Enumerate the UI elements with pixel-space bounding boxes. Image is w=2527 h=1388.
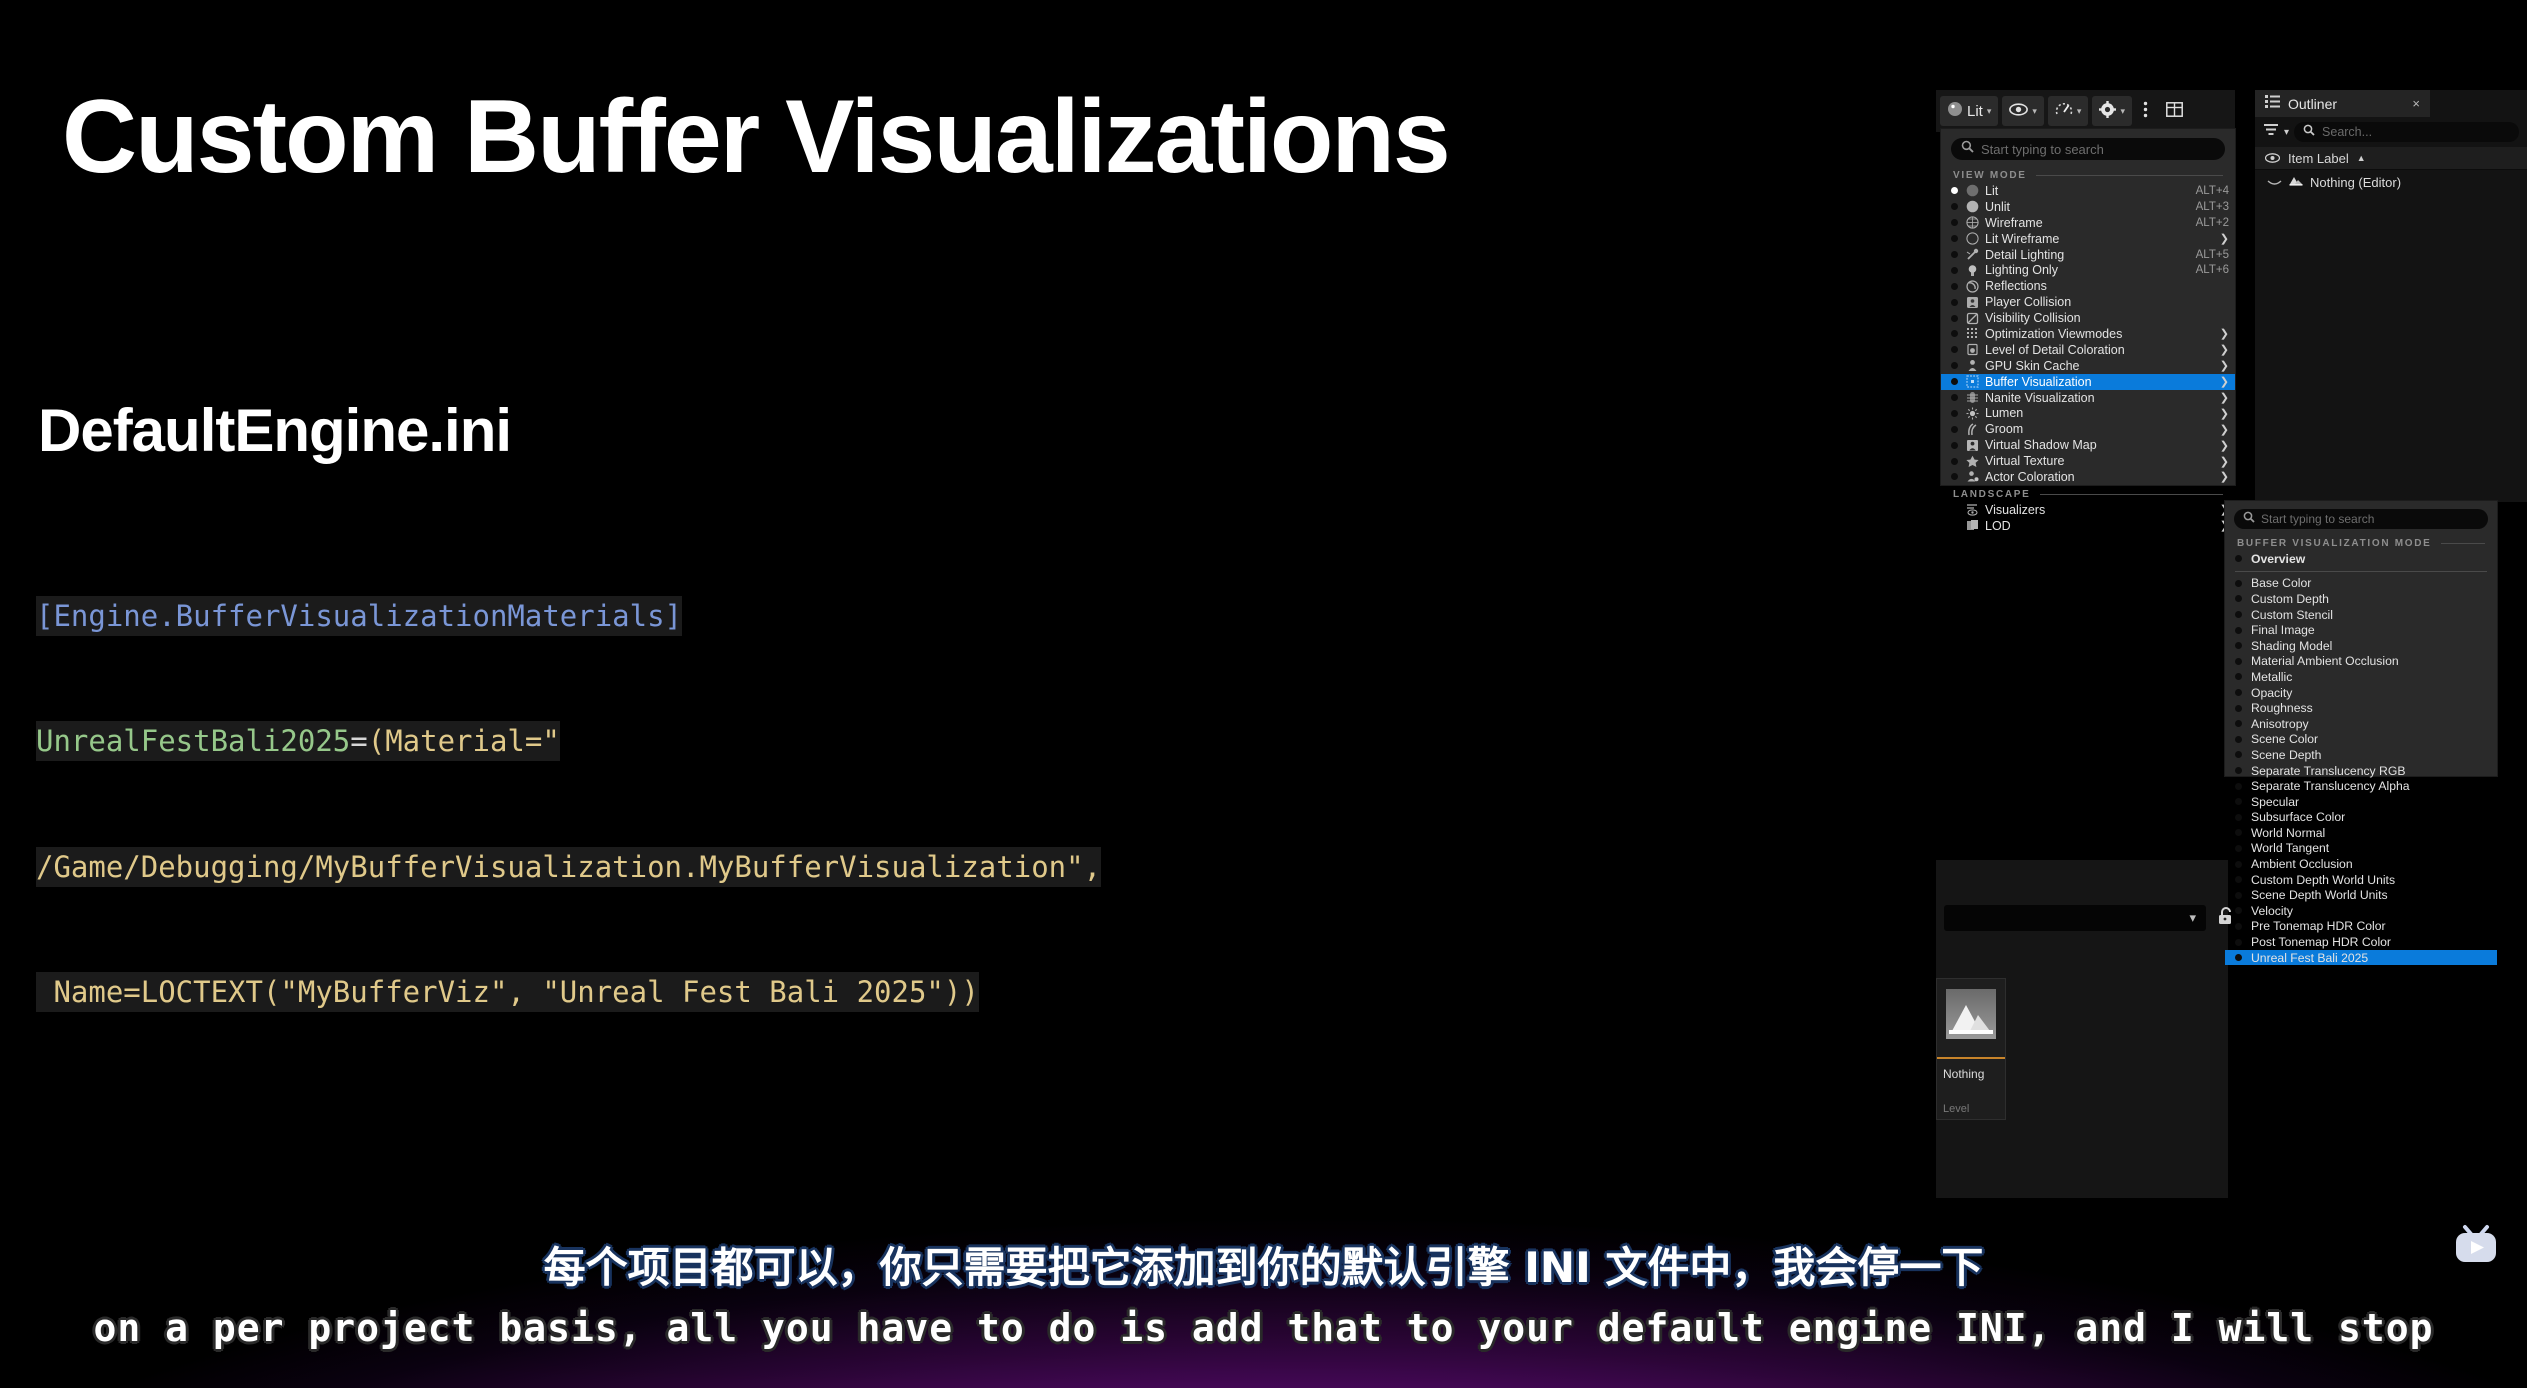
radio-icon bbox=[1951, 394, 1958, 401]
bufviz-item-label: Ambient Occlusion bbox=[2251, 857, 2353, 871]
bufviz-item-world-tangent[interactable]: World Tangent bbox=[2225, 841, 2497, 857]
radio-icon bbox=[1951, 283, 1958, 290]
chevron-down-icon: ▾ bbox=[1987, 106, 1992, 117]
radio-icon bbox=[2235, 939, 2242, 946]
chevron-down-icon: ▾ bbox=[2032, 106, 2037, 117]
code-line-4: Name=LOCTEXT("MyBufferViz", "Unreal Fest… bbox=[36, 972, 1101, 1014]
viewmode-item-shortcut: ALT+4 bbox=[2196, 185, 2229, 197]
radio-icon bbox=[1951, 267, 1958, 274]
viewmode-item-reflections[interactable]: Reflections bbox=[1941, 278, 2235, 294]
lit-wireframe-icon bbox=[1965, 232, 1979, 245]
bufviz-item-label: Unreal Fest Bali 2025 bbox=[2251, 951, 2368, 965]
chevron-right-icon: ❯ bbox=[2220, 407, 2229, 420]
search-placeholder: Search... bbox=[2322, 125, 2372, 139]
close-icon[interactable]: × bbox=[2412, 96, 2420, 111]
viewmode-item-level-of-detail-coloration[interactable]: Level of Detail Coloration❯ bbox=[1941, 342, 2235, 358]
radio-icon bbox=[2235, 845, 2242, 852]
code-line-1: [Engine.BufferVisualizationMaterials] bbox=[36, 596, 1101, 638]
radio-icon bbox=[1951, 219, 1958, 226]
outliner-title: Outliner bbox=[2288, 96, 2404, 112]
radio-icon bbox=[2235, 673, 2242, 680]
view-mode-menu: Start typing to search VIEW MODE LitALT+… bbox=[1940, 128, 2236, 486]
viewmode-item-shortcut: ALT+2 bbox=[2196, 217, 2229, 229]
viewmode-item-label: Reflections bbox=[1985, 279, 2229, 293]
bufviz-item-label: Separate Translucency RGB bbox=[2251, 764, 2405, 778]
radio-icon bbox=[2235, 923, 2242, 930]
show-flags-button[interactable]: ▾ bbox=[2002, 96, 2044, 126]
radio-icon bbox=[1951, 235, 1958, 242]
bufviz-item-scene-depth-world-units[interactable]: Scene Depth World Units bbox=[2225, 887, 2497, 903]
bufviz-item-label: Base Color bbox=[2251, 576, 2311, 590]
lit-sphere-icon bbox=[1965, 184, 1979, 197]
radio-icon bbox=[2235, 798, 2242, 805]
visibility-collision-icon bbox=[1965, 312, 1979, 325]
chevron-down-icon: ▾ bbox=[2077, 106, 2082, 117]
bufviz-item-overview[interactable]: Overview bbox=[2225, 551, 2497, 567]
bufviz-item-list: Base ColorCustom DepthCustom StencilFina… bbox=[2225, 576, 2497, 966]
chevron-down-icon[interactable]: ▾ bbox=[2284, 127, 2289, 138]
visualizers-icon bbox=[1965, 503, 1979, 516]
chevron-right-icon: ❯ bbox=[2220, 391, 2229, 404]
code-section-header: [Engine.BufferVisualizationMaterials] bbox=[36, 596, 682, 636]
divider bbox=[2441, 543, 2485, 544]
chevron-right-icon: ❯ bbox=[2220, 423, 2229, 436]
bufviz-item-custom-stencil[interactable]: Custom Stencil bbox=[2225, 607, 2497, 623]
bufviz-item-separate-translucency-alpha[interactable]: Separate Translucency Alpha bbox=[2225, 778, 2497, 794]
lod-icon bbox=[1965, 519, 1979, 532]
bufviz-item-scene-depth[interactable]: Scene Depth bbox=[2225, 747, 2497, 763]
bufviz-item-pre-tonemap-hdr-color[interactable]: Pre Tonemap HDR Color bbox=[2225, 919, 2497, 935]
bufviz-item-custom-depth-world-units[interactable]: Custom Depth World Units bbox=[2225, 872, 2497, 888]
asset-type: Level bbox=[1943, 1103, 1969, 1115]
unlit-sphere-icon bbox=[1965, 200, 1979, 213]
bufviz-item-world-normal[interactable]: World Normal bbox=[2225, 825, 2497, 841]
subtitle-chinese: 每个项目都可以，你只需要把它添加到你的默认引擎 INI 文件中，我会停一下 bbox=[0, 1234, 2527, 1295]
code-line-3: /Game/Debugging/MyBufferVisualization.My… bbox=[36, 847, 1101, 889]
bufviz-item-opacity[interactable]: Opacity bbox=[2225, 685, 2497, 701]
groom-icon bbox=[1965, 423, 1979, 436]
viewmode-item-label: Lit Wireframe bbox=[1985, 232, 2214, 246]
radio-icon bbox=[1951, 203, 1958, 210]
viewmode-item-gpu-skin-cache[interactable]: GPU Skin Cache❯ bbox=[1941, 358, 2235, 374]
code-material-path: /Game/Debugging/MyBufferVisualization.My… bbox=[36, 847, 1101, 887]
viewmode-item-label: Nanite Visualization bbox=[1985, 391, 2214, 405]
bufviz-item-custom-depth[interactable]: Custom Depth bbox=[2225, 591, 2497, 607]
level-thumbnail-icon bbox=[1946, 989, 1996, 1039]
viewmode-item-label: Player Collision bbox=[1985, 295, 2229, 309]
virtual-texture-icon bbox=[1965, 455, 1979, 468]
viewmode-item-shortcut: ALT+3 bbox=[2196, 201, 2229, 213]
virtual-shadow-map-icon bbox=[1965, 439, 1979, 452]
eye-icon bbox=[2009, 103, 2028, 120]
landscape-item-label: Visualizers bbox=[1985, 503, 2214, 517]
bilibili-logo-icon bbox=[2452, 1224, 2500, 1266]
outliner-toolbar: ▾ Search... bbox=[2255, 117, 2527, 147]
chevron-right-icon: ❯ bbox=[2220, 439, 2229, 452]
page-title: Custom Buffer Visualizations bbox=[62, 78, 1449, 197]
viewmode-section-header: VIEW MODE bbox=[1941, 166, 2235, 183]
bufviz-item-label: Opacity bbox=[2251, 686, 2292, 700]
viewmode-item-virtual-texture[interactable]: Virtual Texture❯ bbox=[1941, 453, 2235, 469]
bufviz-item-label: Roughness bbox=[2251, 701, 2313, 715]
viewmode-item-label: Virtual Texture bbox=[1985, 454, 2214, 468]
bufviz-item-base-color[interactable]: Base Color bbox=[2225, 576, 2497, 592]
chevron-right-icon: ❯ bbox=[2220, 343, 2229, 356]
search-icon bbox=[2243, 510, 2255, 528]
lod-coloration-icon bbox=[1965, 343, 1979, 356]
radio-icon bbox=[1951, 251, 1958, 258]
spacer bbox=[1951, 522, 1958, 529]
sort-ascending-icon[interactable]: ▲ bbox=[2357, 153, 2366, 163]
radio-icon bbox=[2235, 892, 2242, 899]
bufviz-item-label: Scene Color bbox=[2251, 732, 2318, 746]
landscape-section-header: LANDSCAPE bbox=[1941, 485, 2235, 502]
bufviz-item-label: Material Ambient Occlusion bbox=[2251, 654, 2399, 668]
radio-icon bbox=[2235, 627, 2242, 634]
bufviz-item-post-tonemap-hdr-color[interactable]: Post Tonemap HDR Color bbox=[2225, 934, 2497, 950]
viewmode-item-lit-wireframe[interactable]: Lit Wireframe❯ bbox=[1941, 231, 2235, 247]
radio-icon bbox=[1951, 187, 1958, 194]
optimization-icon bbox=[1965, 327, 1979, 340]
search-icon bbox=[2303, 123, 2315, 141]
bufviz-item-label: Anisotropy bbox=[2251, 717, 2309, 731]
radio-icon bbox=[1951, 362, 1958, 369]
landscape-item-lod[interactable]: LOD❯ bbox=[1941, 518, 2235, 534]
viewmode-item-label: Lumen bbox=[1985, 406, 2214, 420]
code-snippet: [Engine.BufferVisualizationMaterials] Un… bbox=[36, 512, 1101, 1056]
code-line-2: UnrealFestBali2025=(Material=" bbox=[36, 721, 1101, 763]
divider bbox=[2235, 571, 2487, 572]
bufviz-section-label: BUFFER VISUALIZATION MODE bbox=[2237, 538, 2432, 549]
viewmode-item-label: Actor Coloration bbox=[1985, 470, 2214, 484]
bufviz-item-label: Scene Depth World Units bbox=[2251, 888, 2388, 902]
lumen-icon bbox=[1965, 407, 1979, 420]
viewmode-item-lumen[interactable]: Lumen❯ bbox=[1941, 405, 2235, 421]
viewmode-item-label: Optimization Viewmodes bbox=[1985, 327, 2214, 341]
viewmode-item-shortcut: ALT+6 bbox=[2196, 264, 2229, 276]
subtitle-english: on a per project basis, all you have to … bbox=[0, 1306, 2527, 1350]
outliner-panel: Outliner × ▾ Search... Item Label ▲ Noth… bbox=[2254, 90, 2527, 502]
code-equals: = bbox=[350, 724, 367, 758]
viewmode-item-label: Level of Detail Coloration bbox=[1985, 343, 2214, 357]
bufviz-item-label: Shading Model bbox=[2251, 639, 2332, 653]
radio-icon bbox=[1951, 458, 1958, 465]
radio-icon bbox=[2235, 751, 2242, 758]
chevron-right-icon: ❯ bbox=[2220, 359, 2229, 372]
radio-icon bbox=[2235, 720, 2242, 727]
speedometer-icon bbox=[2055, 101, 2073, 121]
viewmode-item-shortcut: ALT+5 bbox=[2196, 249, 2229, 261]
bufviz-item-label: Post Tonemap HDR Color bbox=[2251, 935, 2391, 949]
grid-icon bbox=[2166, 102, 2183, 121]
viewmode-item-actor-coloration[interactable]: Actor Coloration❯ bbox=[1941, 469, 2235, 485]
radio-icon bbox=[1951, 378, 1958, 385]
bufviz-item-label: Velocity bbox=[2251, 904, 2293, 918]
viewmode-item-groom[interactable]: Groom❯ bbox=[1941, 421, 2235, 437]
bufviz-section-header: BUFFER VISUALIZATION MODE bbox=[2225, 534, 2497, 551]
viewmode-item-nanite-visualization[interactable]: Nanite Visualization❯ bbox=[1941, 390, 2235, 406]
radio-icon bbox=[2235, 876, 2242, 883]
buffer-visualization-menu: Start typing to search BUFFER VISUALIZAT… bbox=[2224, 500, 2498, 777]
radio-icon bbox=[2235, 658, 2242, 665]
view-mode-label: Lit bbox=[1967, 103, 1983, 120]
viewmode-item-lit[interactable]: LitALT+4 bbox=[1941, 183, 2235, 199]
divider bbox=[2040, 494, 2223, 495]
viewmode-item-virtual-shadow-map[interactable]: Virtual Shadow Map❯ bbox=[1941, 437, 2235, 453]
bufviz-item-label: Final Image bbox=[2251, 623, 2315, 637]
kebab-icon bbox=[2143, 101, 2148, 122]
asset-tile[interactable]: Nothing Level bbox=[1936, 978, 2006, 1120]
bufviz-item-label: Overview bbox=[2251, 552, 2305, 566]
radio-icon bbox=[2235, 580, 2242, 587]
outliner-row-label: Nothing (Editor) bbox=[2310, 175, 2401, 190]
viewmode-item-unlit[interactable]: UnlitALT+3 bbox=[1941, 199, 2235, 215]
radio-icon bbox=[2235, 555, 2242, 562]
bufviz-item-label: Specular bbox=[2251, 795, 2299, 809]
buffer-visualization-icon bbox=[1965, 375, 1979, 388]
radio-icon bbox=[2235, 642, 2242, 649]
landscape-section-label: LANDSCAPE bbox=[1953, 489, 2031, 500]
bufviz-item-shading-model[interactable]: Shading Model bbox=[2225, 638, 2497, 654]
actor-coloration-icon bbox=[1965, 470, 1979, 483]
bufviz-item-metallic[interactable]: Metallic bbox=[2225, 669, 2497, 685]
radio-icon bbox=[2235, 907, 2242, 914]
view-mode-button[interactable]: Lit ▾ bbox=[1940, 96, 1998, 126]
radio-icon bbox=[1951, 315, 1958, 322]
bufviz-item-label: Subsurface Color bbox=[2251, 810, 2345, 824]
bufviz-item-label: Custom Stencil bbox=[2251, 608, 2333, 622]
chevron-right-icon: ❯ bbox=[2220, 470, 2229, 483]
radio-icon bbox=[2235, 595, 2242, 602]
spacer bbox=[1951, 506, 1958, 513]
outliner-column-header[interactable]: Item Label ▲ bbox=[2255, 147, 2527, 170]
level-combo-box[interactable]: ▾ bbox=[1944, 905, 2206, 931]
landscape-item-list: Visualizers❯LOD❯ bbox=[1941, 502, 2235, 534]
bufviz-item-specular[interactable]: Specular bbox=[2225, 794, 2497, 810]
viewmode-item-label: GPU Skin Cache bbox=[1985, 359, 2214, 373]
bufviz-item-label: World Normal bbox=[2251, 826, 2325, 840]
nanite-icon bbox=[1965, 391, 1979, 404]
wireframe-icon bbox=[1965, 216, 1979, 229]
landscape-item-visualizers[interactable]: Visualizers❯ bbox=[1941, 502, 2235, 518]
radio-icon bbox=[2235, 829, 2242, 836]
search-icon bbox=[1961, 140, 1974, 158]
detail-lighting-icon bbox=[1965, 248, 1979, 261]
landscape-item-label: LOD bbox=[1985, 519, 2214, 533]
bufviz-item-label: Scene Depth bbox=[2251, 748, 2321, 762]
content-panel: ▾ Nothing Level bbox=[1936, 860, 2228, 1198]
reflections-icon bbox=[1965, 280, 1979, 293]
outliner-row[interactable]: Nothing (Editor) bbox=[2255, 170, 2527, 194]
radio-icon bbox=[2235, 705, 2242, 712]
lightbulb-icon bbox=[1965, 264, 1979, 277]
viewmode-item-player-collision[interactable]: Player Collision bbox=[1941, 294, 2235, 310]
chevron-right-icon: ❯ bbox=[2220, 375, 2229, 388]
bufviz-search-input[interactable]: Start typing to search bbox=[2234, 509, 2488, 529]
level-icon bbox=[2289, 175, 2303, 190]
radio-icon bbox=[1951, 330, 1958, 337]
bufviz-item-final-image[interactable]: Final Image bbox=[2225, 622, 2497, 638]
viewmode-item-buffer-visualization[interactable]: Buffer Visualization❯ bbox=[1941, 374, 2235, 390]
radio-icon bbox=[1951, 426, 1958, 433]
radio-icon bbox=[2235, 611, 2242, 618]
divider bbox=[2036, 175, 2223, 176]
filter-icon[interactable] bbox=[2264, 123, 2279, 141]
viewmode-item-list: LitALT+4UnlitALT+3WireframeALT+2Lit Wire… bbox=[1941, 183, 2235, 485]
eye-icon[interactable] bbox=[2265, 151, 2280, 166]
tab-outliner[interactable]: Outliner × bbox=[2255, 90, 2430, 117]
viewmode-item-optimization-viewmodes[interactable]: Optimization Viewmodes❯ bbox=[1941, 326, 2235, 342]
radio-icon bbox=[1951, 473, 1958, 480]
viewport-toolbar: Lit ▾ ▾ ▾ ▾ bbox=[1936, 90, 2235, 132]
radio-icon bbox=[2235, 814, 2242, 821]
bufviz-item-label: Pre Tonemap HDR Color bbox=[2251, 919, 2386, 933]
bufviz-item-scene-color[interactable]: Scene Color bbox=[2225, 732, 2497, 748]
chevron-down-icon: ▾ bbox=[2189, 910, 2196, 926]
gpu-skin-cache-icon bbox=[1965, 359, 1979, 372]
layout-button[interactable] bbox=[2159, 96, 2190, 126]
bufviz-item-ambient-occlusion[interactable]: Ambient Occlusion bbox=[2225, 856, 2497, 872]
radio-icon bbox=[2235, 783, 2242, 790]
bufviz-search-placeholder: Start typing to search bbox=[2261, 512, 2374, 526]
chevron-down-icon: ▾ bbox=[2120, 106, 2125, 117]
viewmode-item-lighting-only[interactable]: Lighting OnlyALT+6 bbox=[1941, 262, 2235, 278]
player-collision-icon bbox=[1965, 296, 1979, 309]
viewmode-item-label: Visibility Collision bbox=[1985, 311, 2229, 325]
settings-button[interactable]: ▾ bbox=[2092, 96, 2132, 126]
chevron-right-icon: ❯ bbox=[2220, 455, 2229, 468]
column-header-label: Item Label bbox=[2288, 151, 2349, 166]
viewmode-item-label: Unlit bbox=[1985, 200, 2190, 214]
bufviz-item-anisotropy[interactable]: Anisotropy bbox=[2225, 716, 2497, 732]
bufviz-item-label: Custom Depth bbox=[2251, 592, 2329, 606]
radio-icon bbox=[2235, 861, 2242, 868]
content-panel-toolbar: ▾ bbox=[1936, 898, 2244, 938]
viewmode-item-label: Wireframe bbox=[1985, 216, 2190, 230]
radio-icon bbox=[2235, 689, 2242, 696]
bufviz-item-label: Custom Depth World Units bbox=[2251, 873, 2395, 887]
radio-icon bbox=[1951, 346, 1958, 353]
code-loctext: Name=LOCTEXT("MyBufferViz", "Unreal Fest… bbox=[36, 972, 979, 1012]
asset-accent-bar bbox=[1937, 1057, 2005, 1059]
gear-icon bbox=[2099, 101, 2116, 122]
bufviz-item-roughness[interactable]: Roughness bbox=[2225, 700, 2497, 716]
eye-closed-icon[interactable] bbox=[2267, 175, 2282, 190]
ini-file-heading: DefaultEngine.ini bbox=[38, 396, 511, 465]
search-input[interactable]: Search... bbox=[2294, 122, 2519, 142]
bufviz-item-unreal-fest-bali-2025[interactable]: Unreal Fest Bali 2025 bbox=[2225, 950, 2497, 966]
asset-name: Nothing bbox=[1943, 1067, 1984, 1081]
chevron-right-icon: ❯ bbox=[2220, 232, 2229, 245]
radio-icon bbox=[1951, 442, 1958, 449]
viewmode-item-label: Lit bbox=[1985, 184, 2190, 198]
lit-sphere-icon bbox=[1947, 101, 1963, 121]
viewmode-section-label: VIEW MODE bbox=[1953, 170, 2027, 181]
bufviz-item-velocity[interactable]: Velocity bbox=[2225, 903, 2497, 919]
bufviz-item-separate-translucency-rgb[interactable]: Separate Translucency RGB bbox=[2225, 763, 2497, 779]
bufviz-item-label: World Tangent bbox=[2251, 841, 2329, 855]
viewmode-item-label: Detail Lighting bbox=[1985, 248, 2190, 262]
bufviz-item-subsurface-color[interactable]: Subsurface Color bbox=[2225, 810, 2497, 826]
bufviz-item-label: Separate Translucency Alpha bbox=[2251, 779, 2410, 793]
code-material-open: (Material=" bbox=[368, 724, 560, 758]
viewmode-item-label: Groom bbox=[1985, 422, 2214, 436]
radio-icon bbox=[1951, 410, 1958, 417]
radio-icon bbox=[1951, 299, 1958, 306]
code-key: UnrealFestBali2025 bbox=[36, 724, 350, 758]
more-options-button[interactable] bbox=[2136, 96, 2155, 126]
bufviz-item-material-ambient-occlusion[interactable]: Material Ambient Occlusion bbox=[2225, 654, 2497, 670]
viewmode-item-label: Virtual Shadow Map bbox=[1985, 438, 2214, 452]
viewmode-item-label: Buffer Visualization bbox=[1985, 375, 2214, 389]
outliner-icon bbox=[2265, 95, 2280, 113]
viewmode-item-visibility-collision[interactable]: Visibility Collision bbox=[1941, 310, 2235, 326]
radio-icon bbox=[2235, 954, 2242, 961]
bufviz-item-label: Metallic bbox=[2251, 670, 2292, 684]
viewmode-item-wireframe[interactable]: WireframeALT+2 bbox=[1941, 215, 2235, 231]
viewmode-search-placeholder: Start typing to search bbox=[1981, 142, 2104, 157]
radio-icon bbox=[2235, 736, 2242, 743]
viewmode-search-input[interactable]: Start typing to search bbox=[1951, 138, 2225, 160]
viewmode-item-detail-lighting[interactable]: Detail LightingALT+5 bbox=[1941, 247, 2235, 263]
viewmode-item-label: Lighting Only bbox=[1985, 263, 2190, 277]
chevron-right-icon: ❯ bbox=[2220, 327, 2229, 340]
radio-icon bbox=[2235, 767, 2242, 774]
performance-button[interactable]: ▾ bbox=[2048, 96, 2089, 126]
